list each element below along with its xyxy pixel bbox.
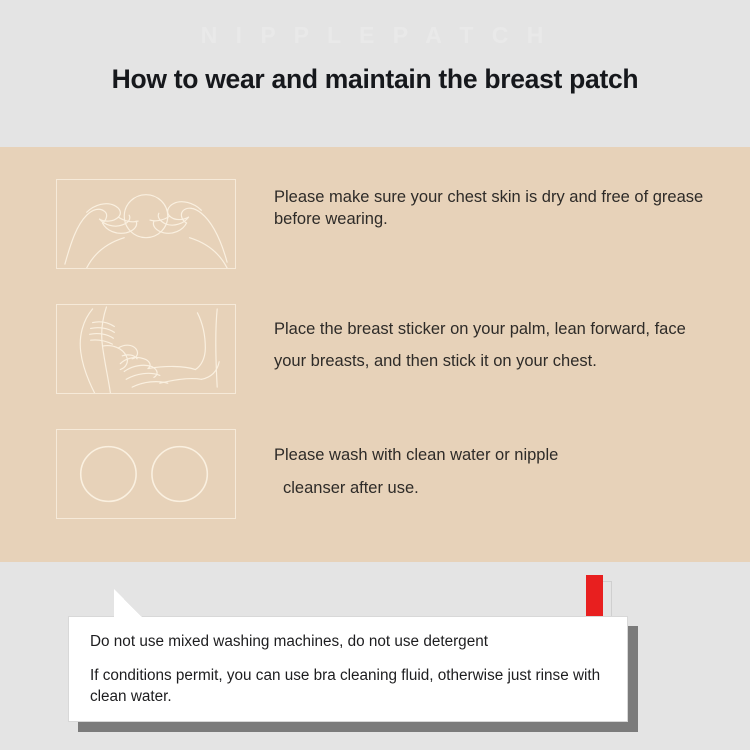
- step-description: Please wash with clean water or nipple c…: [274, 439, 704, 505]
- step-description: Please make sure your chest skin is dry …: [274, 187, 704, 231]
- warning-tail: [114, 589, 142, 617]
- step-description: Place the breast sticker on your palm, l…: [274, 313, 704, 377]
- warning-callout: Do not use mixed washing machines, do no…: [68, 616, 628, 722]
- background-watermark-text: N I P P L E P A T C H: [0, 22, 750, 49]
- header-band: N I P P L E P A T C H How to wear and ma…: [0, 0, 750, 147]
- warning-box: Do not use mixed washing machines, do no…: [68, 616, 628, 722]
- hand-applying-patch-to-chest-illustration: [56, 304, 236, 394]
- warning-line-1: Do not use mixed washing machines, do no…: [90, 633, 610, 651]
- step-description-line-1: Please wash with clean water or nipple: [274, 446, 558, 464]
- two-round-patches-illustration: [56, 429, 236, 519]
- hands-peeling-patch-illustration: [56, 179, 236, 269]
- steps-band: Please make sure your chest skin is dry …: [0, 147, 750, 562]
- warning-text-block: Do not use mixed washing machines, do no…: [90, 633, 610, 707]
- infographic-page: N I P P L E P A T C H How to wear and ma…: [0, 0, 750, 750]
- warning-line-2: If conditions permit, you can use bra cl…: [90, 665, 610, 707]
- step-description-line-2: cleanser after use.: [274, 472, 704, 505]
- page-title: How to wear and maintain the breast patc…: [0, 64, 750, 95]
